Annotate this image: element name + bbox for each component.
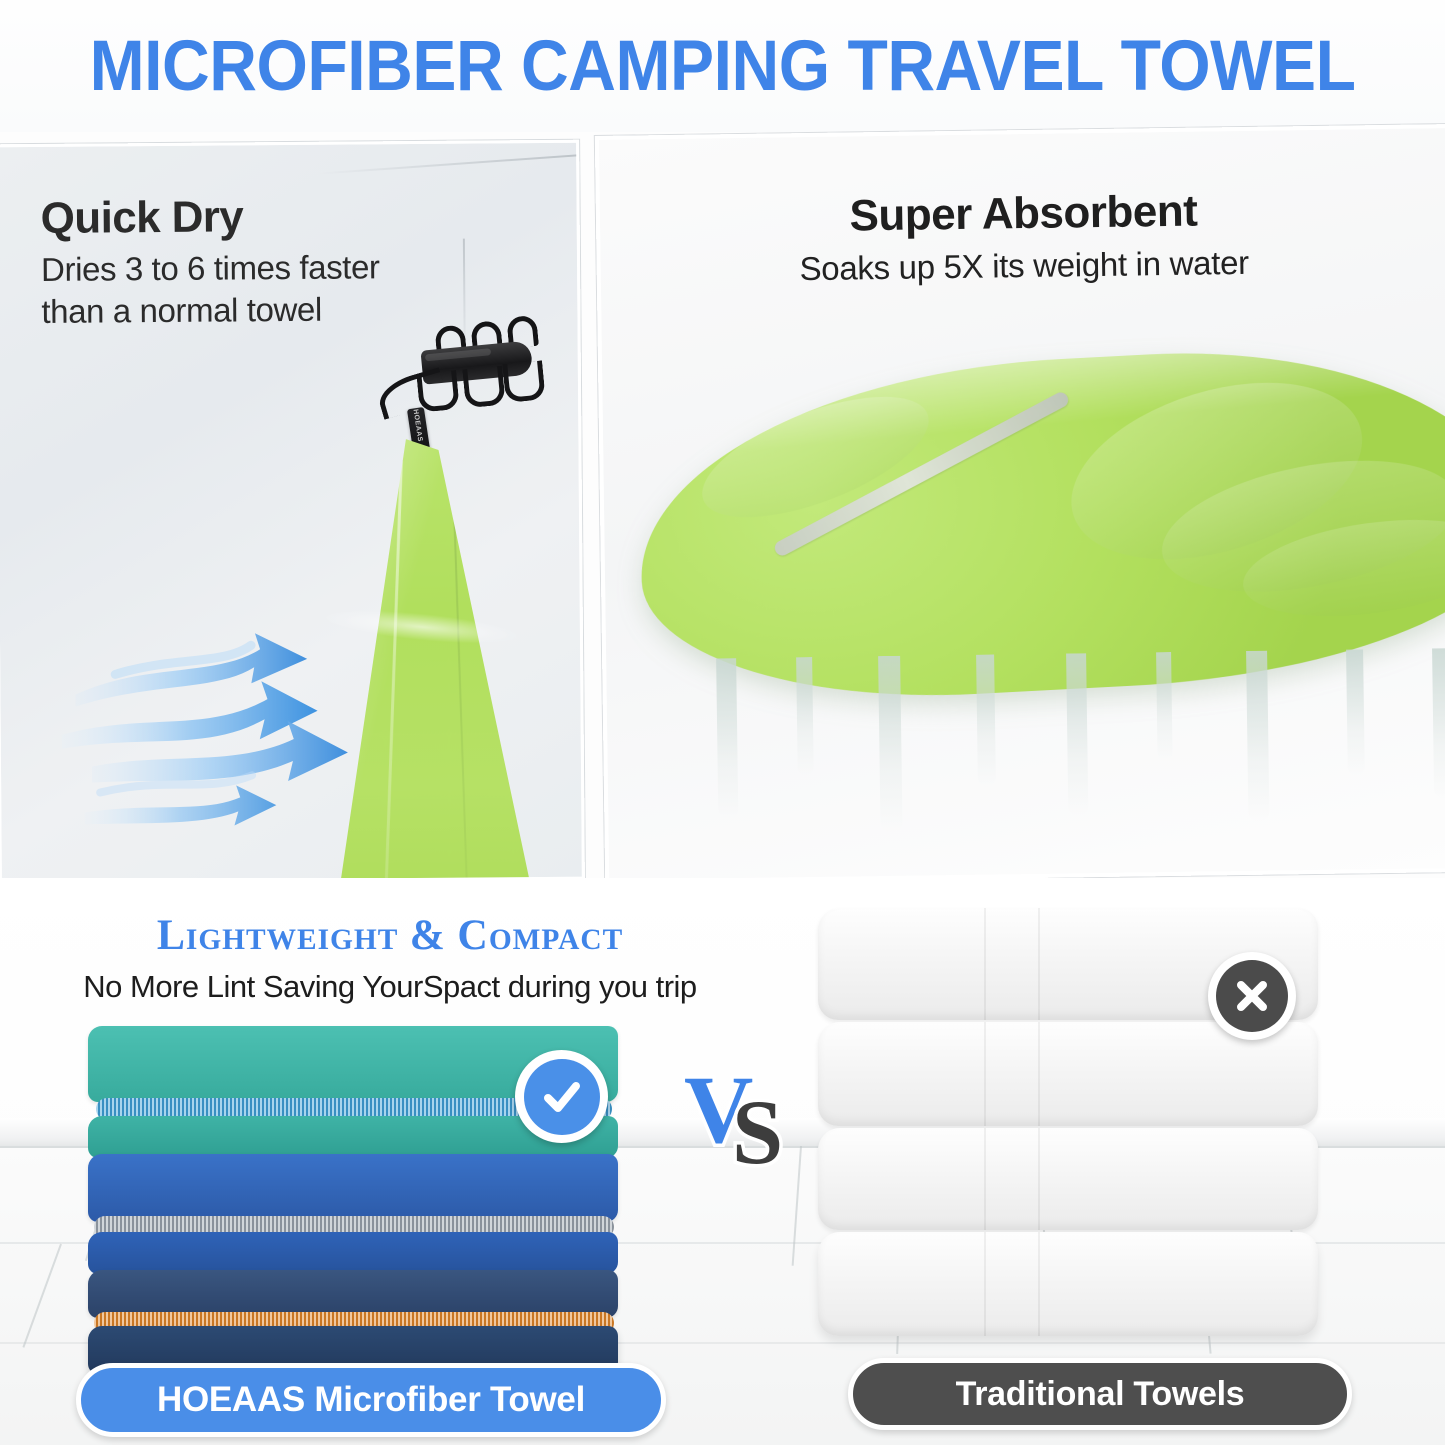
water-drip — [1346, 649, 1365, 775]
airflow-arrows-icon — [55, 614, 477, 867]
towel-layer-royal-blue — [88, 1154, 618, 1222]
super-absorbent-text-block: Super Absorbent Soaks up 5X its weight i… — [600, 186, 1445, 291]
wall-hook-rack-icon: HOEAAS — [393, 319, 554, 440]
versus-mark: V S — [684, 1062, 804, 1192]
panel-super-absorbent: Super Absorbent Soaks up 5X its weight i… — [595, 124, 1445, 884]
water-drip — [716, 658, 738, 818]
x-badge — [1208, 952, 1296, 1040]
quick-dry-line-1: Dries 3 to 6 times faster — [41, 247, 380, 290]
water-drip — [1066, 653, 1088, 815]
white-towel — [818, 1232, 1318, 1336]
water-drip — [878, 656, 902, 832]
towel-fold-4 — [687, 372, 943, 542]
water-drip — [796, 657, 814, 775]
title-bar: MICROFIBER CAMPING TRAVEL TOWEL — [0, 0, 1445, 132]
towel-layer-blue-lower — [88, 1232, 618, 1274]
label-hoeaas-microfiber-towel: HOEAAS Microfiber Towel — [76, 1363, 666, 1437]
quick-dry-heading: Quick Dry — [41, 194, 380, 241]
quick-dry-line-2: than a normal towel — [41, 290, 380, 333]
label-traditional-towels: Traditional Towels — [848, 1358, 1352, 1430]
x-badge-circle — [1216, 960, 1288, 1032]
infographic-root: MICROFIBER CAMPING TRAVEL TOWEL Quick Dr… — [0, 0, 1445, 1445]
water-drip — [1432, 648, 1445, 798]
hook-bottom-3 — [502, 360, 546, 403]
white-towel — [818, 1128, 1318, 1230]
quick-dry-text-block: Quick Dry Dries 3 to 6 times faster than… — [41, 194, 381, 332]
close-icon — [1231, 975, 1273, 1017]
page-title: MICROFIBER CAMPING TRAVEL TOWEL — [90, 31, 1356, 102]
check-badge — [515, 1050, 608, 1143]
versus-s: S — [732, 1086, 783, 1178]
water-drips-group — [646, 641, 1445, 884]
super-absorbent-subheading: Soaks up 5X its weight in water — [600, 241, 1445, 291]
hook-bottom-2 — [462, 366, 506, 409]
towel-layer-navy — [88, 1270, 618, 1318]
lightweight-subheading: No More Lint Saving YourSpact during you… — [60, 969, 720, 1005]
panel-quick-dry: Quick Dry Dries 3 to 6 times faster than… — [0, 140, 585, 885]
super-absorbent-heading: Super Absorbent — [600, 186, 1445, 242]
water-drip — [976, 654, 996, 786]
water-drip — [1246, 651, 1269, 821]
check-badge-circle — [524, 1059, 600, 1135]
check-icon — [539, 1074, 585, 1120]
water-drip — [1156, 652, 1173, 760]
lightweight-heading: Lightweight & Compact — [67, 914, 714, 957]
wall-molding-line — [316, 149, 585, 174]
lightweight-text-block: Lightweight & Compact No More Lint Savin… — [60, 914, 720, 1005]
hang-tag-label: HOEAAS — [411, 408, 423, 443]
